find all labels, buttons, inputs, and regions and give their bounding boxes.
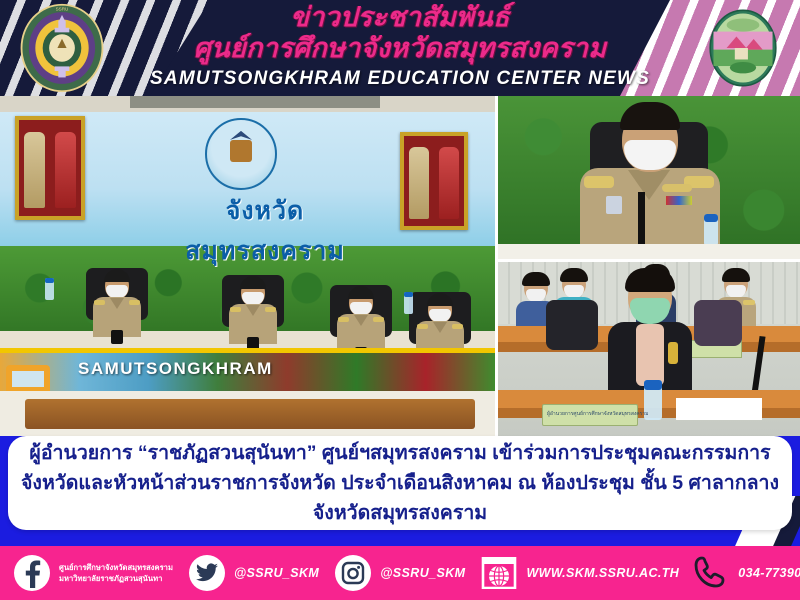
footer-facebook-item[interactable]: ศูนย์การศึกษาจังหวัดสมุทรสงคราม มหาวิทยา… [14, 555, 173, 591]
instagram-handle: @SSRU_SKM [380, 566, 465, 580]
royal-portrait-right [400, 132, 468, 230]
backdrop-province-emblem-icon [205, 118, 277, 190]
water-bottle [404, 292, 413, 314]
university-seal-icon: SSRU [16, 2, 108, 94]
website-url: WWW.SKM.SSRU.AC.TH [526, 566, 679, 580]
name-plate-text: ผู้อำนวยการศูนย์การศึกษาจังหวัดสมุทรสงคร… [547, 410, 648, 418]
province-seal-icon [702, 5, 784, 91]
instagram-icon [341, 561, 365, 585]
documents-on-table [676, 398, 762, 420]
footer-twitter-item[interactable]: @SSRU_SKM [189, 555, 319, 591]
royal-portrait-left [15, 116, 85, 220]
phone-icon [691, 555, 729, 591]
top-right-photo [498, 96, 800, 259]
uniform-badge [606, 196, 622, 214]
banner-text: SAMUTSONGKHRAM [78, 359, 273, 379]
social-footer-bar: ศูนย์การศึกษาจังหวัดสมุทรสงคราม มหาวิทยา… [0, 546, 800, 600]
uniform-epaulette-left [584, 176, 614, 188]
photo-collage: จังหวัดสมุทรสงคราม [0, 96, 800, 436]
twitter-icon-circle[interactable] [189, 555, 225, 591]
phone-icon-wrap[interactable] [691, 555, 729, 591]
front-desk [25, 399, 475, 429]
backdrop-province-title: จังหวัดสมุทรสงคราม [150, 191, 380, 271]
footer-phone-item[interactable]: 034-773902 [691, 555, 800, 591]
svg-text:SSRU: SSRU [56, 6, 69, 11]
empty-chair-right [694, 300, 742, 346]
globe-icon [481, 557, 517, 589]
water-bottle [704, 214, 718, 246]
instagram-icon-circle[interactable] [335, 555, 371, 591]
water-bottle [45, 278, 54, 300]
poster-header: ข่าวประชาสัมพันธ์ ศูนย์การศึกษาจังหวัดสม… [0, 0, 800, 96]
facebook-label: ศูนย์การศึกษาจังหวัดสมุทรสงคราม มหาวิทยา… [59, 562, 173, 584]
footer-website-item[interactable]: WWW.SKM.SSRU.AC.TH [481, 557, 679, 589]
facebook-label-line2: มหาวิทยาลัยราชภัฏสวนสุนันทา [59, 573, 173, 584]
table-microphone [638, 192, 645, 248]
bottom-right-photo: ผู้อำนวยการศูนย์การศึกษาจังหวัดสมุทรสงคร… [498, 262, 800, 436]
caption-text: ผู้อำนวยการ “ราชภัฏสวนสุนันทา” ศูนย์ฯสมุ… [20, 438, 780, 528]
phone-number: 034-773902 [738, 566, 800, 580]
meeting-desk [498, 244, 800, 259]
facebook-label-line1: ศูนย์การศึกษาจังหวัดสมุทรสงคราม [59, 562, 173, 573]
caption-panel: ผู้อำนวยการ “ราชภัฏสวนสุนันทา” ศูนย์ฯสมุ… [8, 436, 792, 530]
twitter-icon [195, 561, 219, 585]
facebook-icon-circle[interactable] [14, 555, 50, 591]
news-poster: ข่าวประชาสัมพันธ์ ศูนย์การศึกษาจังหวัดสม… [0, 0, 800, 600]
main-photo: จังหวัดสมุทรสงคราม [0, 96, 495, 436]
speaker-name-plate: ผู้อำนวยการศูนย์การศึกษาจังหวัดสมุทรสงคร… [542, 404, 638, 426]
facebook-icon [17, 558, 47, 588]
header-title-backdrop [150, 0, 670, 96]
uniform-wing-insignia [662, 184, 692, 192]
ceiling-beam [130, 96, 380, 108]
footer-instagram-item[interactable]: @SSRU_SKM [335, 555, 465, 591]
uniform-ribbon-bar [666, 196, 692, 205]
globe-icon-wrap[interactable] [481, 557, 517, 589]
empty-chair-left [546, 300, 598, 350]
twitter-handle: @SSRU_SKM [234, 566, 319, 580]
